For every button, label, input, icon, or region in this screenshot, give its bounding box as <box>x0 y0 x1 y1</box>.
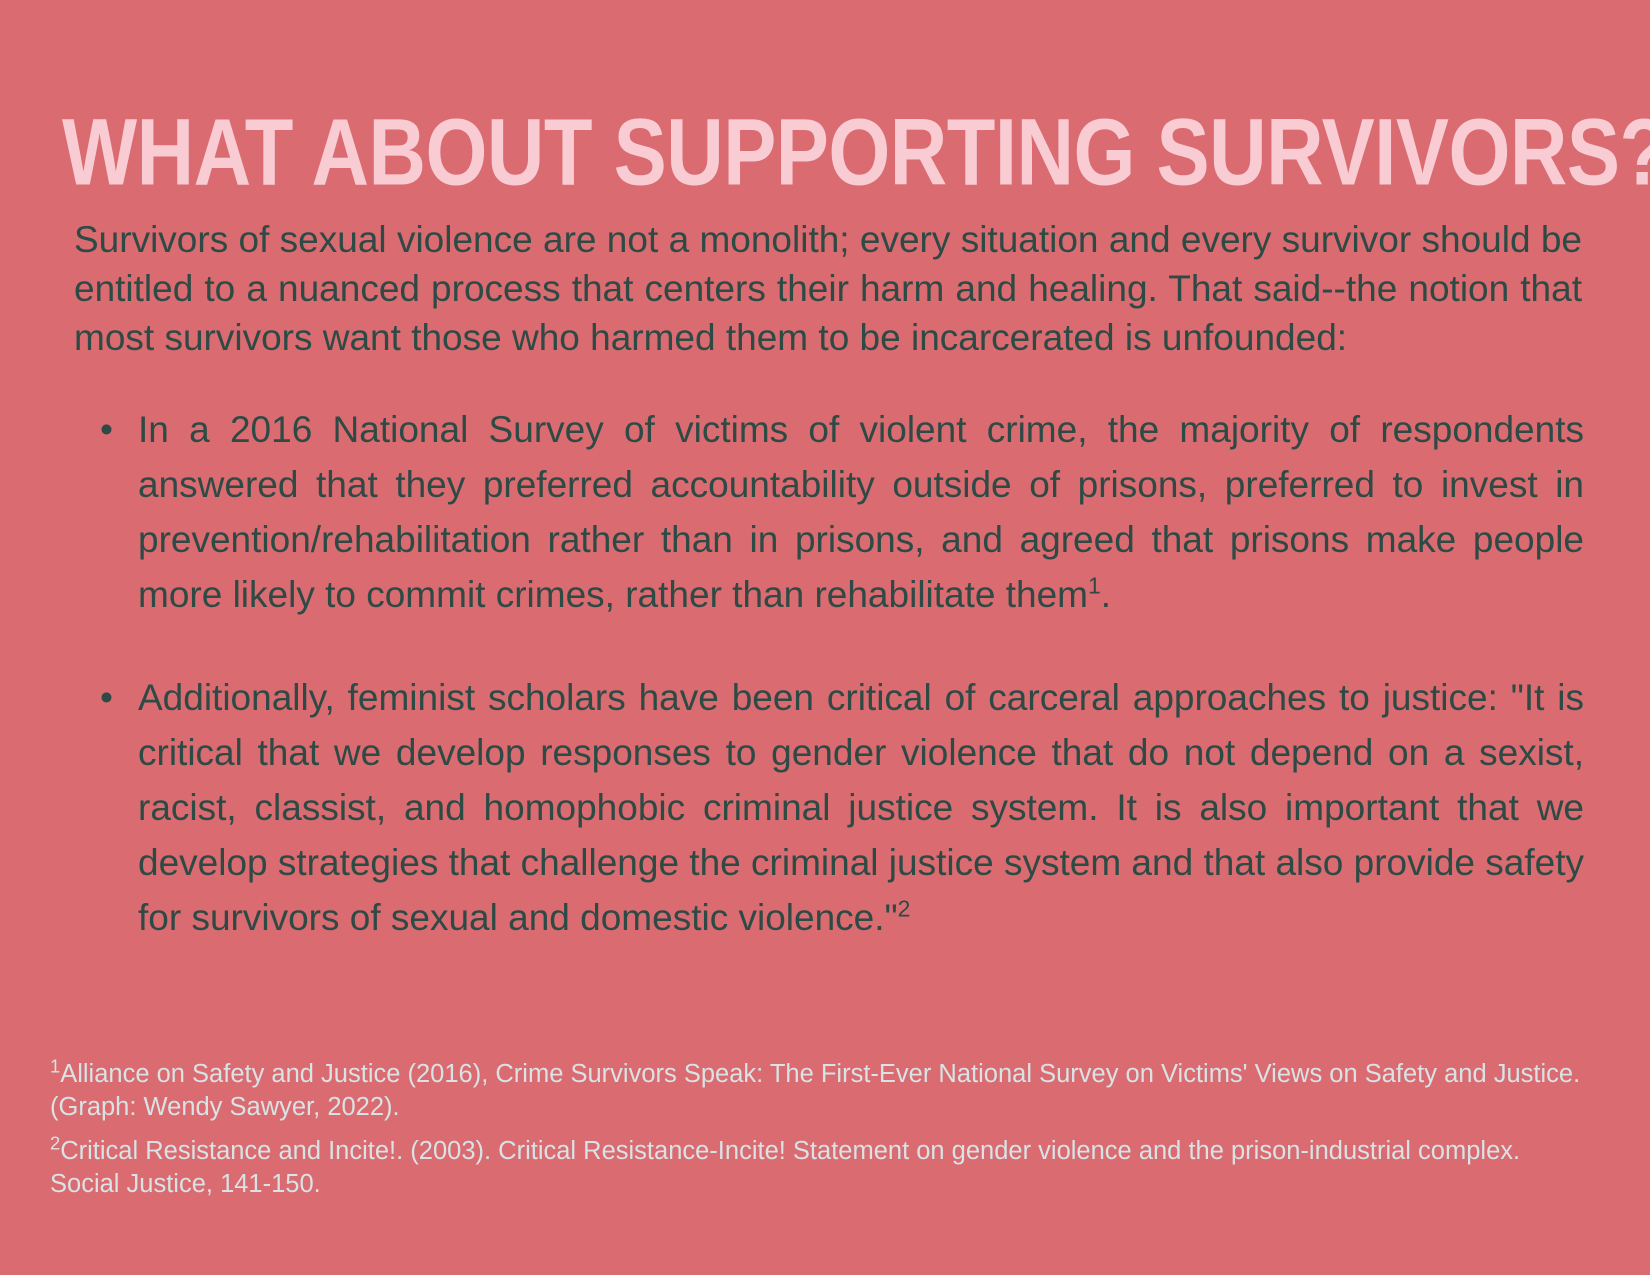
bullet-marker-icon: • <box>92 670 138 725</box>
list-item: • Additionally, feminist scholars have b… <box>92 670 1584 945</box>
footnote-1: 1Alliance on Safety and Justice (2016), … <box>50 1058 1596 1124</box>
list-item-body: Additionally, feminist scholars have bee… <box>138 677 1584 938</box>
footnote-2-marker: 2 <box>50 1133 60 1154</box>
list-item-text: Additionally, feminist scholars have bee… <box>138 670 1584 945</box>
list-item-tail: . <box>1101 574 1111 615</box>
footnote-1-text: Alliance on Safety and Justice (2016), C… <box>50 1060 1580 1121</box>
footnote-1-marker: 1 <box>50 1056 60 1077</box>
footnotes-block: 1Alliance on Safety and Justice (2016), … <box>50 1058 1596 1201</box>
footnote-2: 2Critical Resistance and Incite!. (2003)… <box>50 1135 1596 1201</box>
footnote-ref-2: 2 <box>898 896 911 922</box>
list-item-text: In a 2016 National Survey of victims of … <box>138 402 1584 622</box>
page-title: WHAT ABOUT SUPPORTING SURVIVORS? <box>62 102 1592 188</box>
list-item: • In a 2016 National Survey of victims o… <box>92 402 1584 622</box>
slide-root: WHAT ABOUT SUPPORTING SURVIVORS? Survivo… <box>0 0 1650 1275</box>
intro-paragraph: Survivors of sexual violence are not a m… <box>74 215 1582 362</box>
footnote-ref-1: 1 <box>1088 573 1101 599</box>
bullet-list: • In a 2016 National Survey of victims o… <box>92 402 1584 945</box>
footnote-2-text: Critical Resistance and Incite!. (2003).… <box>50 1137 1520 1198</box>
list-item-body: In a 2016 National Survey of victims of … <box>138 409 1584 615</box>
bullet-marker-icon: • <box>92 402 138 457</box>
page-title-text: WHAT ABOUT SUPPORTING SURVIVORS? <box>62 102 1650 203</box>
